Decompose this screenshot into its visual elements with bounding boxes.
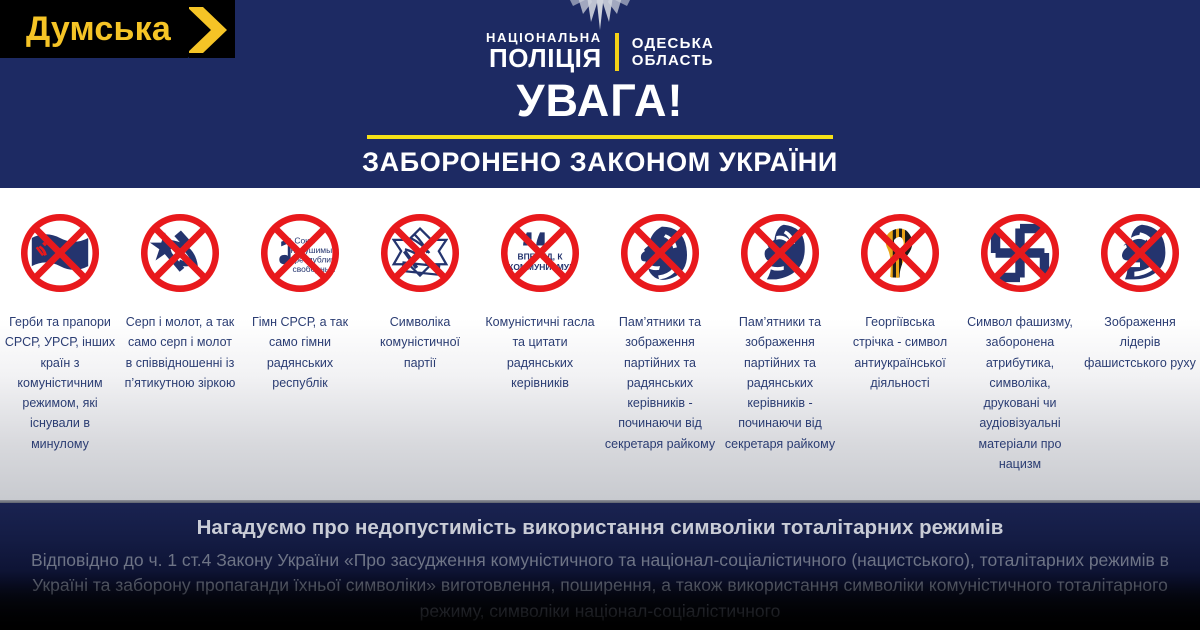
prohibited-lenin-portrait-icon xyxy=(613,206,707,300)
prohibited-item: Пам’ятники та зображення партійних та ра… xyxy=(720,206,840,474)
prohibited-item-caption: Символ фашизму, заборонена атрибутика, с… xyxy=(964,312,1076,474)
logo-right-line2: ОБЛАСТЬ xyxy=(632,52,714,69)
prohibited-soviet-anthem-icon: Союз нерушимый республик свободных xyxy=(253,206,347,300)
prohibited-item-caption: Герби та прапори СРСР, УРСР, інших країн… xyxy=(4,312,116,454)
poster-root: Думська xyxy=(0,0,1200,630)
prohibited-item: ВПЕРЕД, К КОММУНИЗМУ! Комуністичні гасла… xyxy=(480,206,600,474)
prohibited-item-caption: Пам’ятники та зображення партійних та ра… xyxy=(604,312,716,454)
prohibited-item-caption: Георгіївська стрічка - символ антиукраїн… xyxy=(844,312,956,393)
title-underline xyxy=(367,135,833,139)
prohibited-saint-george-ribbon-icon xyxy=(853,206,947,300)
prohibited-fascist-leader-portrait-icon xyxy=(1093,206,1187,300)
prohibited-item: Союз нерушимый республик свободных Гімн … xyxy=(240,206,360,474)
header: Думська xyxy=(0,0,1200,188)
logo-left-big: ПОЛІЦІЯ xyxy=(489,45,602,72)
prohibited-communist-slogan-icon: ВПЕРЕД, К КОММУНИЗМУ! xyxy=(493,206,587,300)
footer-body-text: Відповідно до ч. 1 ст.4 Закону України «… xyxy=(20,548,1180,626)
brand-tag-body[interactable]: Думська xyxy=(0,0,189,58)
prohibited-hammer-sickle-star-icon xyxy=(133,206,227,300)
prohibited-item: Символ фашизму, заборонена атрибутика, с… xyxy=(960,206,1080,474)
prohibited-swastika-icon xyxy=(973,206,1067,300)
prohibited-item: Серп і молот, а так само серп і молот в … xyxy=(120,206,240,474)
brand-tag[interactable]: Думська xyxy=(0,0,235,58)
brand-tag-label: Думська xyxy=(26,12,171,46)
prohibited-item: Символіка комуністичної партії xyxy=(360,206,480,474)
prohibited-communist-party-emblem-icon xyxy=(373,206,467,300)
prohibited-item-caption: Зображення лідерів фашистського руху xyxy=(1084,312,1196,373)
page-title: УВАГА! xyxy=(0,78,1200,123)
prohibited-item-caption: Комуністичні гасла та цитати радянських … xyxy=(484,312,596,393)
prohibited-item-caption: Символіка комуністичної партії xyxy=(364,312,476,373)
page-subtitle: ЗАБОРОНЕНО ЗАКОНОМ УКРАЇНИ xyxy=(0,149,1200,176)
police-eagle-emblem-icon xyxy=(525,0,675,30)
police-logo-text: НАЦІОНАЛЬНА ПОЛІЦІЯ ОДЕСЬКА ОБЛАСТЬ xyxy=(486,31,714,73)
prohibited-item-caption: Пам’ятники та зображення партійних та ра… xyxy=(724,312,836,454)
prohibited-item: Георгіївська стрічка - символ антиукраїн… xyxy=(840,206,960,474)
prohibited-item-caption: Серп і молот, а так само серп і молот в … xyxy=(124,312,236,393)
prohibited-items-grid: Герби та прапори СРСР, УРСР, інших країн… xyxy=(0,188,1200,474)
chevron-right-icon xyxy=(189,0,235,58)
prohibited-item-caption: Гімн СРСР, а так само гімни радянських р… xyxy=(244,312,356,393)
prohibited-item: Зображення лідерів фашистського руху xyxy=(1080,206,1200,474)
prohibited-item: Герби та прапори СРСР, УРСР, інших країн… xyxy=(0,206,120,474)
footer: Нагадуємо про недопустимість використанн… xyxy=(0,500,1200,630)
prohibited-soviet-leader-portrait-icon xyxy=(733,206,827,300)
attention-block: УВАГА! ЗАБОРОНЕНО ЗАКОНОМ УКРАЇНИ xyxy=(0,78,1200,176)
logo-right-line1: ОДЕСЬКА xyxy=(632,35,714,52)
police-logo: НАЦІОНАЛЬНА ПОЛІЦІЯ ОДЕСЬКА ОБЛАСТЬ xyxy=(420,0,780,73)
prohibited-item: Пам’ятники та зображення партійних та ра… xyxy=(600,206,720,474)
prohibited-soviet-flag-icon xyxy=(13,206,107,300)
footer-heading: Нагадуємо про недопустимість використанн… xyxy=(0,518,1200,539)
slogan-line-2: КОММУНИЗМУ! xyxy=(508,262,572,272)
prohibited-items-section: Герби та прапори СРСР, УРСР, інших країн… xyxy=(0,188,1200,500)
